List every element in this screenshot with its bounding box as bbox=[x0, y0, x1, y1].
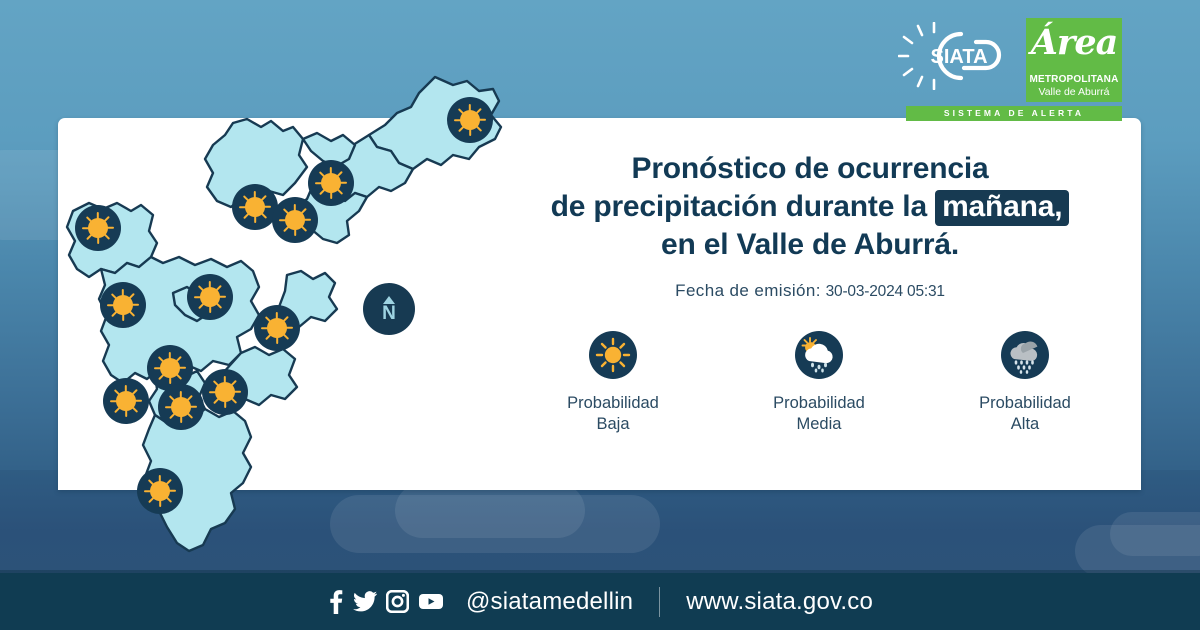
emission-date-label: Fecha de emisión: bbox=[675, 281, 821, 300]
legend-label-media: Probabilidad Media bbox=[754, 393, 884, 435]
forecast-panel: Pronóstico de ocurrencia de precipitació… bbox=[500, 150, 1120, 435]
map-marker-sun-icon bbox=[100, 282, 146, 328]
youtube-icon[interactable] bbox=[418, 592, 444, 611]
map-marker-sun-icon bbox=[254, 305, 300, 351]
siata-logo: SIATA bbox=[898, 22, 1020, 90]
sun-ray bbox=[122, 315, 124, 322]
map-marker-sun-icon bbox=[158, 384, 204, 430]
sun-ray bbox=[159, 501, 161, 508]
sun-ray bbox=[330, 193, 332, 200]
facebook-icon[interactable] bbox=[327, 589, 344, 615]
title-highlight-periodo: mañana, bbox=[935, 190, 1069, 226]
title-line-3: en el Valle de Aburrá. bbox=[500, 226, 1120, 264]
sun-ray bbox=[254, 217, 256, 224]
legend-item-media: Probabilidad Media bbox=[754, 331, 884, 435]
sun-core bbox=[267, 318, 287, 338]
legend-item-baja: Probabilidad Baja bbox=[548, 331, 678, 435]
cloud-heavy-rain-icon bbox=[1001, 331, 1049, 379]
infographic-canvas: SIATA Área METROPOLITANA Valle de Aburrá… bbox=[0, 0, 1200, 630]
legend-label-line1: Probabilidad bbox=[548, 393, 678, 414]
legend-label-alta: Probabilidad Alta bbox=[960, 393, 1090, 435]
map-marker-sun-icon bbox=[187, 274, 233, 320]
legend-label-line1: Probabilidad bbox=[754, 393, 884, 414]
sun-core bbox=[245, 197, 265, 217]
map-marker-sun-icon bbox=[447, 97, 493, 143]
sun-core bbox=[215, 382, 235, 402]
north-label: N bbox=[382, 305, 396, 322]
probability-legend: Probabilidad Baja bbox=[500, 331, 1120, 435]
area-line2: Valle de Aburrá bbox=[1026, 86, 1122, 98]
legend-label-line2: Baja bbox=[548, 414, 678, 435]
legend-label-line1: Probabilidad bbox=[960, 393, 1090, 414]
area-line1: METROPOLITANA bbox=[1026, 74, 1122, 85]
emission-date-value: 30-03-2024 05:31 bbox=[826, 283, 945, 300]
sun-icon bbox=[589, 331, 637, 379]
sun-core bbox=[113, 295, 133, 315]
sun-core bbox=[150, 481, 170, 501]
siata-wordmark: SIATA bbox=[930, 46, 987, 68]
footer-content: @siatamedellin www.siata.gov.co bbox=[0, 573, 1200, 630]
north-compass-badge: N bbox=[363, 283, 415, 335]
legend-label-baja: Probabilidad Baja bbox=[548, 393, 678, 435]
sun-ray bbox=[276, 338, 278, 345]
sun-core bbox=[321, 173, 341, 193]
instagram-icon[interactable] bbox=[386, 590, 409, 613]
social-handle[interactable]: @siatamedellin bbox=[466, 588, 633, 616]
sun-core bbox=[88, 218, 108, 238]
page-title: Pronóstico de ocurrencia de precipitació… bbox=[500, 150, 1120, 264]
legend-label-line2: Alta bbox=[960, 414, 1090, 435]
legend-label-line2: Media bbox=[754, 414, 884, 435]
map-marker-sun-icon bbox=[202, 369, 248, 415]
sun-core bbox=[116, 391, 136, 411]
logo-group: SIATA Área METROPOLITANA Valle de Aburrá… bbox=[898, 18, 1124, 110]
emission-date: Fecha de emisión: 30-03-2024 05:31 bbox=[500, 281, 1120, 301]
sun-ray bbox=[469, 130, 471, 137]
area-metropolitana-logo: Área METROPOLITANA Valle de Aburrá bbox=[1026, 18, 1122, 102]
title-line-1: Pronóstico de ocurrencia bbox=[500, 150, 1120, 188]
map-marker-sun-icon bbox=[75, 205, 121, 251]
sun-cloud-rain-icon bbox=[795, 331, 843, 379]
sun-core bbox=[285, 210, 305, 230]
sun-ray bbox=[180, 417, 182, 424]
social-icons bbox=[327, 589, 444, 615]
sun-core bbox=[160, 358, 180, 378]
footer-divider bbox=[659, 587, 660, 617]
sun-ray bbox=[125, 411, 127, 418]
valle-de-aburra-map: N bbox=[55, 35, 525, 580]
sun-ray bbox=[224, 402, 226, 409]
area-script-text: Área bbox=[1026, 22, 1122, 63]
tagline-strip: SISTEMA DE ALERTA TEMPRANA bbox=[906, 106, 1122, 121]
sun-ray bbox=[209, 307, 211, 314]
sun-core bbox=[200, 287, 220, 307]
map-marker-sun-icon bbox=[272, 197, 318, 243]
background-cloud-shape bbox=[1110, 512, 1200, 556]
map-marker-sun-icon bbox=[103, 378, 149, 424]
map-marker-sun-icon bbox=[137, 468, 183, 514]
legend-item-alta: Probabilidad Alta bbox=[960, 331, 1090, 435]
sun-ray bbox=[97, 238, 99, 245]
title-line-2: de precipitación durante la mañana, bbox=[500, 188, 1120, 226]
website-url[interactable]: www.siata.gov.co bbox=[686, 588, 873, 616]
twitter-icon[interactable] bbox=[353, 591, 377, 613]
title-line-2-text: de precipitación durante la bbox=[551, 190, 927, 223]
sun-ray bbox=[294, 230, 296, 237]
sun-core bbox=[460, 110, 480, 130]
sun-core bbox=[171, 397, 191, 417]
